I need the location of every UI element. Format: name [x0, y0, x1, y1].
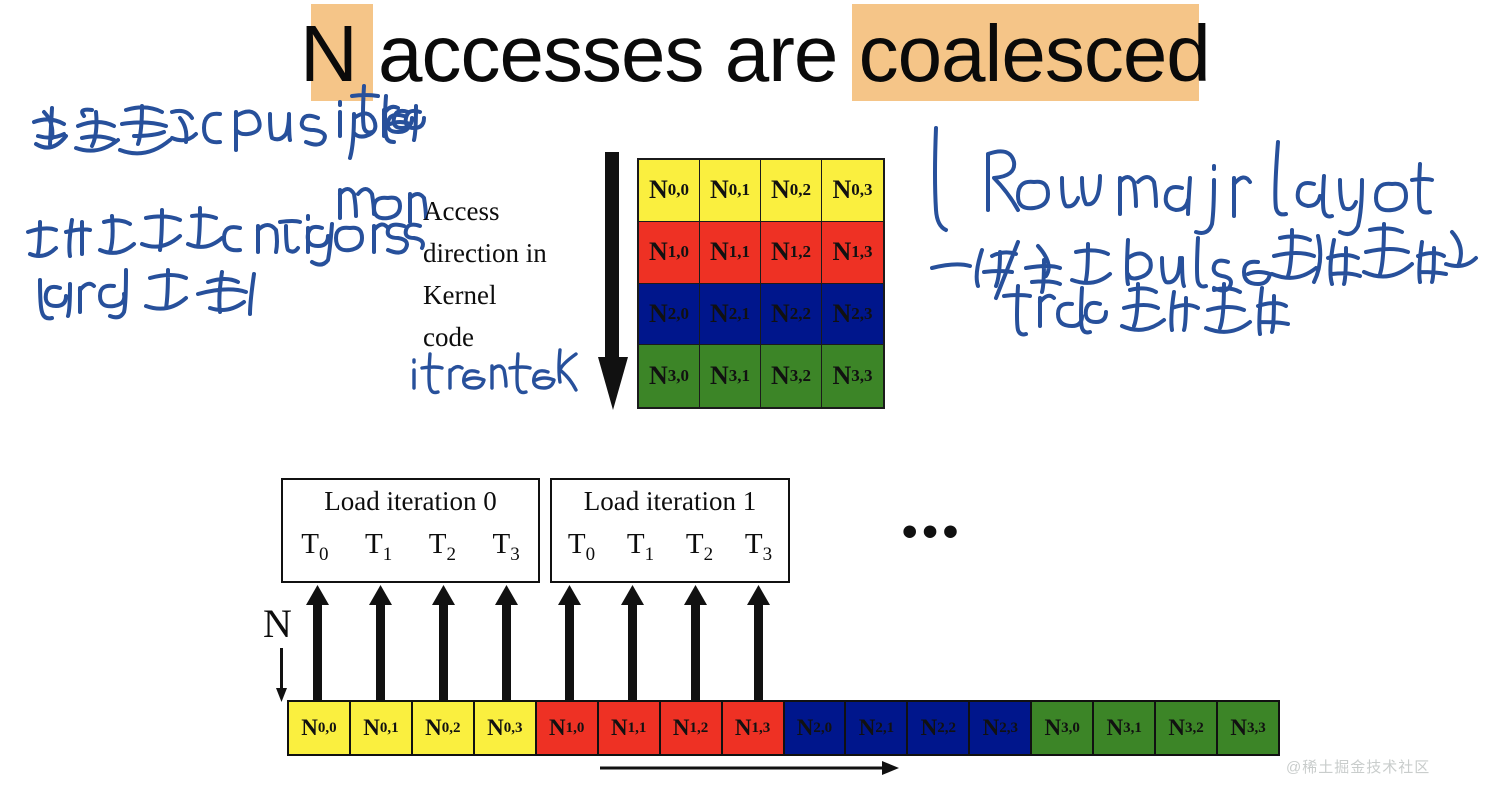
matrix-grid: N0,0N0,1N0,2N0,3N1,0N1,1N1,2N1,3N2,0N2,1… — [637, 158, 885, 409]
memory-cell: N0,3 — [475, 702, 537, 754]
access-direction-arrow-icon — [596, 152, 630, 414]
linear-memory-array: N0,0N0,1N0,2N0,3N1,0N1,1N1,2N1,3N2,0N2,1… — [287, 700, 1280, 756]
matrix-cell: N3,0 — [639, 345, 700, 407]
memory-cell: N3,0 — [1032, 702, 1094, 754]
memory-cell: N1,1 — [599, 702, 661, 754]
matrix-cell: N0,2 — [761, 160, 822, 222]
matrix-cell: N0,0 — [639, 160, 700, 222]
memory-cell: N3,3 — [1218, 702, 1278, 754]
thread-label: T0 — [552, 528, 611, 566]
title-word-highlighted: coalesced — [859, 9, 1210, 98]
memory-cell: N1,2 — [661, 702, 723, 754]
thread-label: T1 — [611, 528, 670, 566]
thread-access-arrows-icon — [280, 585, 800, 703]
access-line-2: direction in — [423, 232, 603, 274]
memory-cell: N2,0 — [785, 702, 847, 754]
matrix-cell: N0,3 — [822, 160, 883, 222]
memory-cell: N0,1 — [351, 702, 413, 754]
load-iteration-box-0[interactable]: Load iteration 0 T0T1T2T3 — [281, 478, 540, 583]
title-word: accesses — [378, 9, 725, 98]
title-word: are — [725, 9, 859, 98]
handwritten-note-iterate-k — [408, 348, 578, 398]
matrix-cell: N2,2 — [761, 284, 822, 346]
array-name-label: N — [263, 600, 292, 647]
matrix-cell: N1,1 — [700, 222, 761, 284]
matrix-cell: N2,0 — [639, 284, 700, 346]
load-iteration-box-1[interactable]: Load iteration 1 T0T1T2T3 — [550, 478, 790, 583]
memory-cell: N2,1 — [846, 702, 908, 754]
memory-cell: N0,2 — [413, 702, 475, 754]
matrix-cell: N2,1 — [700, 284, 761, 346]
thread-label: T1 — [347, 528, 411, 566]
memory-cell: N0,0 — [289, 702, 351, 754]
matrix-cell: N1,0 — [639, 222, 700, 284]
load-iteration-title: Load iteration 0 — [283, 486, 538, 517]
thread-label: T3 — [729, 528, 788, 566]
load-iteration-title: Load iteration 1 — [552, 486, 788, 517]
matrix-cell: N1,3 — [822, 222, 883, 284]
thread-label: T0 — [283, 528, 347, 566]
memory-order-arrow-icon — [600, 755, 900, 781]
access-line-3: Kernel — [423, 274, 603, 316]
matrix-cell: N3,2 — [761, 345, 822, 407]
handwritten-note-right — [922, 122, 1462, 352]
matrix-cell: N3,1 — [700, 345, 761, 407]
ellipsis-label: ••• — [902, 512, 962, 552]
memory-cell: N2,3 — [970, 702, 1032, 754]
memory-cell: N2,2 — [908, 702, 970, 754]
watermark: @稀土掘金技术社区 — [1286, 756, 1430, 777]
handwritten-note-top-left — [22, 82, 422, 257]
slide-canvas: N accesses are coalesced — [0, 0, 1488, 812]
page-title: N accesses are coalesced — [300, 6, 1260, 102]
memory-cell: N1,0 — [537, 702, 599, 754]
thread-row: T0T1T2T3 — [552, 528, 788, 566]
matrix-cell: N0,1 — [700, 160, 761, 222]
thread-label: T3 — [474, 528, 538, 566]
memory-cell: N3,2 — [1156, 702, 1218, 754]
matrix-cell: N1,2 — [761, 222, 822, 284]
thread-row: T0T1T2T3 — [283, 528, 538, 566]
array-pointer-arrow-icon — [272, 648, 292, 704]
memory-cell: N3,1 — [1094, 702, 1156, 754]
access-line-1: Access — [423, 190, 603, 232]
thread-label: T2 — [670, 528, 729, 566]
thread-label: T2 — [411, 528, 475, 566]
matrix-cell: N2,3 — [822, 284, 883, 346]
memory-cell: N1,3 — [723, 702, 785, 754]
matrix-cell: N3,3 — [822, 345, 883, 407]
access-direction-label: Access direction in Kernel code — [423, 190, 603, 358]
